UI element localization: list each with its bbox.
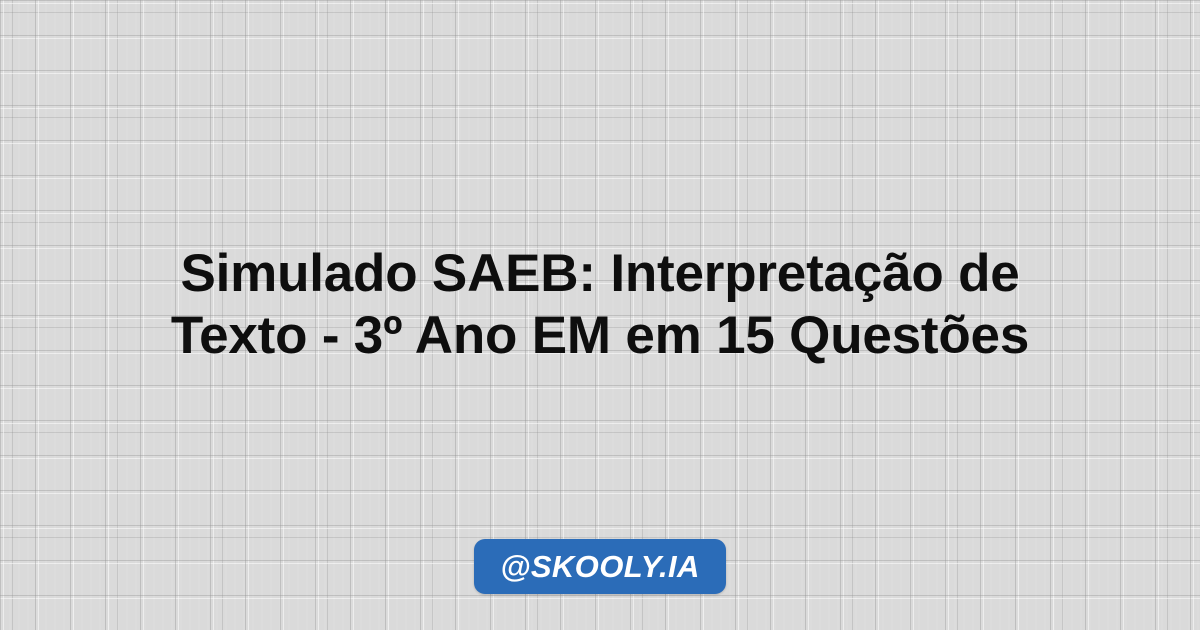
og-card: Simulado SAEB: Interpretação de Texto - … [0,0,1200,630]
title-block: Simulado SAEB: Interpretação de Texto - … [0,243,1200,367]
brand-handle-badge: @SKOOLY.IA [474,539,726,594]
badge-row: @SKOOLY.IA [0,539,1200,594]
card-content: Simulado SAEB: Interpretação de Texto - … [0,0,1200,630]
brand-handle-label: @SKOOLY.IA [500,551,700,582]
page-title: Simulado SAEB: Interpretação de Texto - … [24,243,1176,367]
